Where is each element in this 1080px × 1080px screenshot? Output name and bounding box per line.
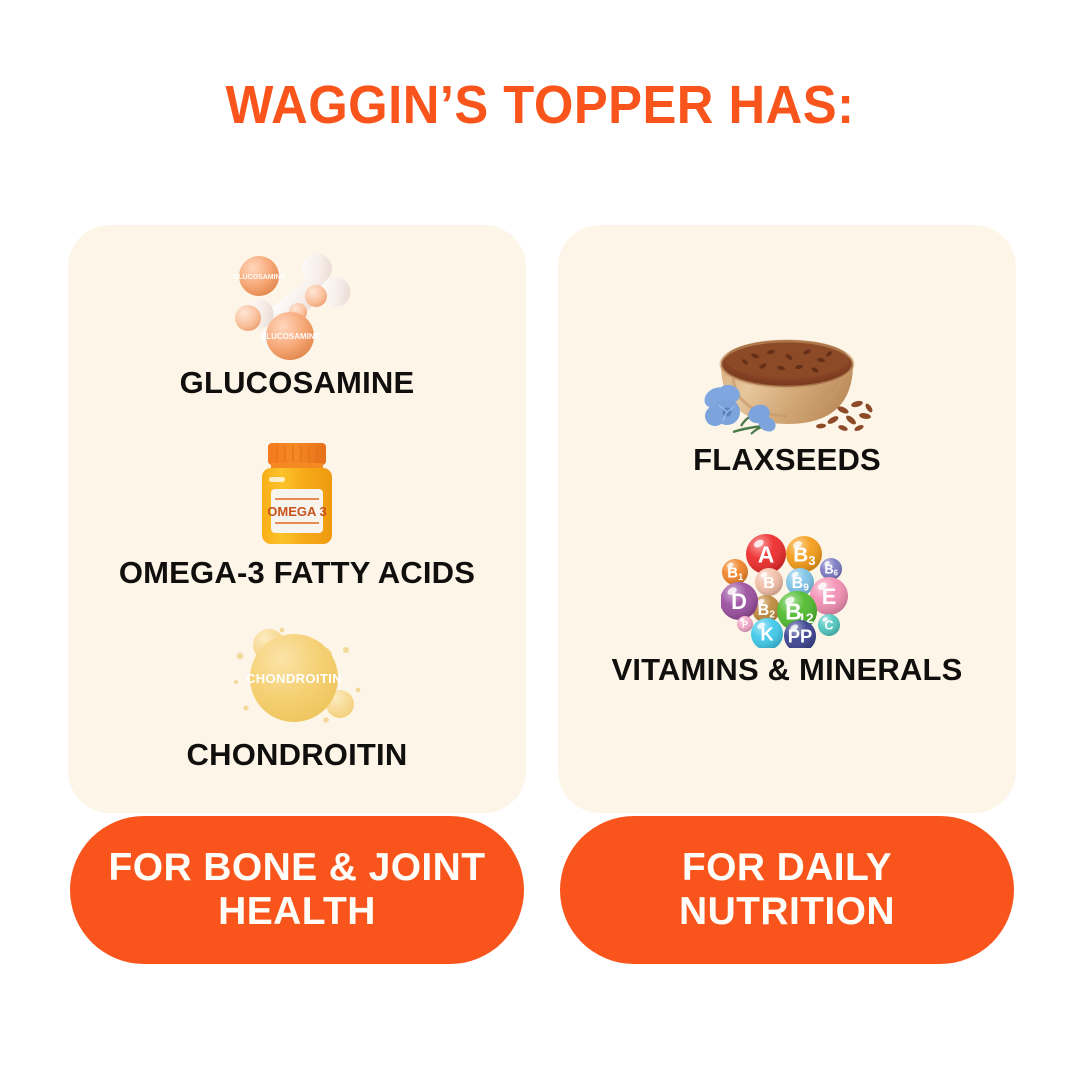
svg-text:9: 9 — [803, 582, 809, 593]
vitamin-bubble-b1: B1 — [722, 559, 748, 585]
svg-text:B: B — [758, 601, 770, 619]
list-item: FLAXSEEDS — [558, 320, 1016, 477]
svg-text:3: 3 — [808, 553, 815, 568]
glucosamine-bone-icon: GLUCOSAMINE GLUCOSAMINE — [212, 240, 382, 366]
list-item: CHONDROITIN CHONDROITIN — [68, 615, 526, 772]
svg-text:B: B — [793, 543, 808, 566]
vitamin-bubble-c: C — [818, 614, 840, 636]
vitamin-bubble-a: A — [746, 534, 786, 574]
omega-3-bottle-label-text: OMEGA 3 — [267, 504, 326, 519]
svg-text:B: B — [727, 564, 738, 581]
svg-text:B: B — [792, 574, 804, 592]
svg-text:D: D — [731, 589, 747, 614]
list-item-label: OMEGA-3 FATTY ACIDS — [68, 557, 526, 590]
button-line-1: FOR BONE & JOINT — [87, 846, 508, 890]
list-item: AB1B3B6B9BB2DEB12PKPPC VITAMINS & MINERA… — [558, 530, 1016, 687]
glucosamine-icon-container: GLUCOSAMINE GLUCOSAMINE — [68, 243, 526, 363]
omega-3-bottle-icon: OMEGA 3 — [249, 437, 345, 549]
chondroitin-icon-container: CHONDROITIN — [68, 615, 526, 735]
for-bone-and-joint-health-button[interactable]: FOR BONE & JOINT HEALTH — [70, 816, 524, 964]
svg-text:6: 6 — [834, 569, 839, 578]
list-item: OMEGA 3 OMEGA-3 FATTY ACIDS — [68, 433, 526, 590]
list-item-label: FLAXSEEDS — [558, 444, 1016, 477]
svg-text:P: P — [742, 619, 748, 629]
button-line-2: HEALTH — [87, 890, 508, 934]
vitamin-bubble-k: K — [751, 618, 783, 648]
omega-3-icon-container: OMEGA 3 — [68, 433, 526, 553]
vitamin-bubble-b: B — [755, 568, 783, 596]
vitamin-bubble-b3: B3 — [786, 536, 822, 572]
glucosamine-sphere-caption-2: GLUCOSAMINE — [260, 332, 321, 341]
chondroitin-sphere-icon: CHONDROITIN — [222, 616, 372, 734]
chondroitin-sphere-caption: CHONDROITIN — [246, 671, 342, 686]
svg-text:PP: PP — [788, 626, 813, 647]
vitamin-bubble-p: P — [737, 616, 753, 632]
flaxseed-bowl-icon — [693, 316, 881, 444]
vitamins-cluster-icon: AB1B3B6B9BB2DEB12PKPPC — [721, 532, 853, 648]
button-line-1: FOR DAILY — [657, 846, 917, 890]
svg-text:B: B — [763, 574, 775, 592]
svg-text:C: C — [824, 619, 833, 633]
list-item: GLUCOSAMINE GLUCOSAMINE GLUCOSAMINE — [68, 243, 526, 400]
for-daily-nutrition-button[interactable]: FOR DAILY NUTRITION — [560, 816, 1014, 964]
vitamin-bubble-d: D — [721, 582, 758, 620]
flaxseed-icon-container — [558, 320, 1016, 440]
vitamin-bubble-b6: B6 — [820, 558, 842, 580]
list-item-label: GLUCOSAMINE — [68, 367, 526, 400]
vitamins-icon-container: AB1B3B6B9BB2DEB12PKPPC — [558, 530, 1016, 650]
svg-text:1: 1 — [738, 572, 743, 582]
button-line-2: NUTRITION — [657, 890, 917, 934]
glucosamine-sphere-caption-1: GLUCOSAMINE — [233, 274, 286, 281]
svg-text:E: E — [822, 584, 837, 609]
list-item-label: VITAMINS & MINERALS — [558, 654, 1016, 687]
svg-text:A: A — [758, 541, 775, 567]
svg-text:K: K — [760, 624, 774, 645]
list-item-label: CHONDROITIN — [68, 739, 526, 772]
infographic-canvas: WAGGIN’S TOPPER HAS: — [0, 0, 1080, 1080]
svg-text:B: B — [824, 563, 833, 577]
bone-joint-card: GLUCOSAMINE GLUCOSAMINE GLUCOSAMINE — [68, 225, 526, 813]
daily-nutrition-card: FLAXSEEDS — [558, 225, 1016, 813]
page-title: WAGGIN’S TOPPER HAS: — [32, 74, 1047, 136]
